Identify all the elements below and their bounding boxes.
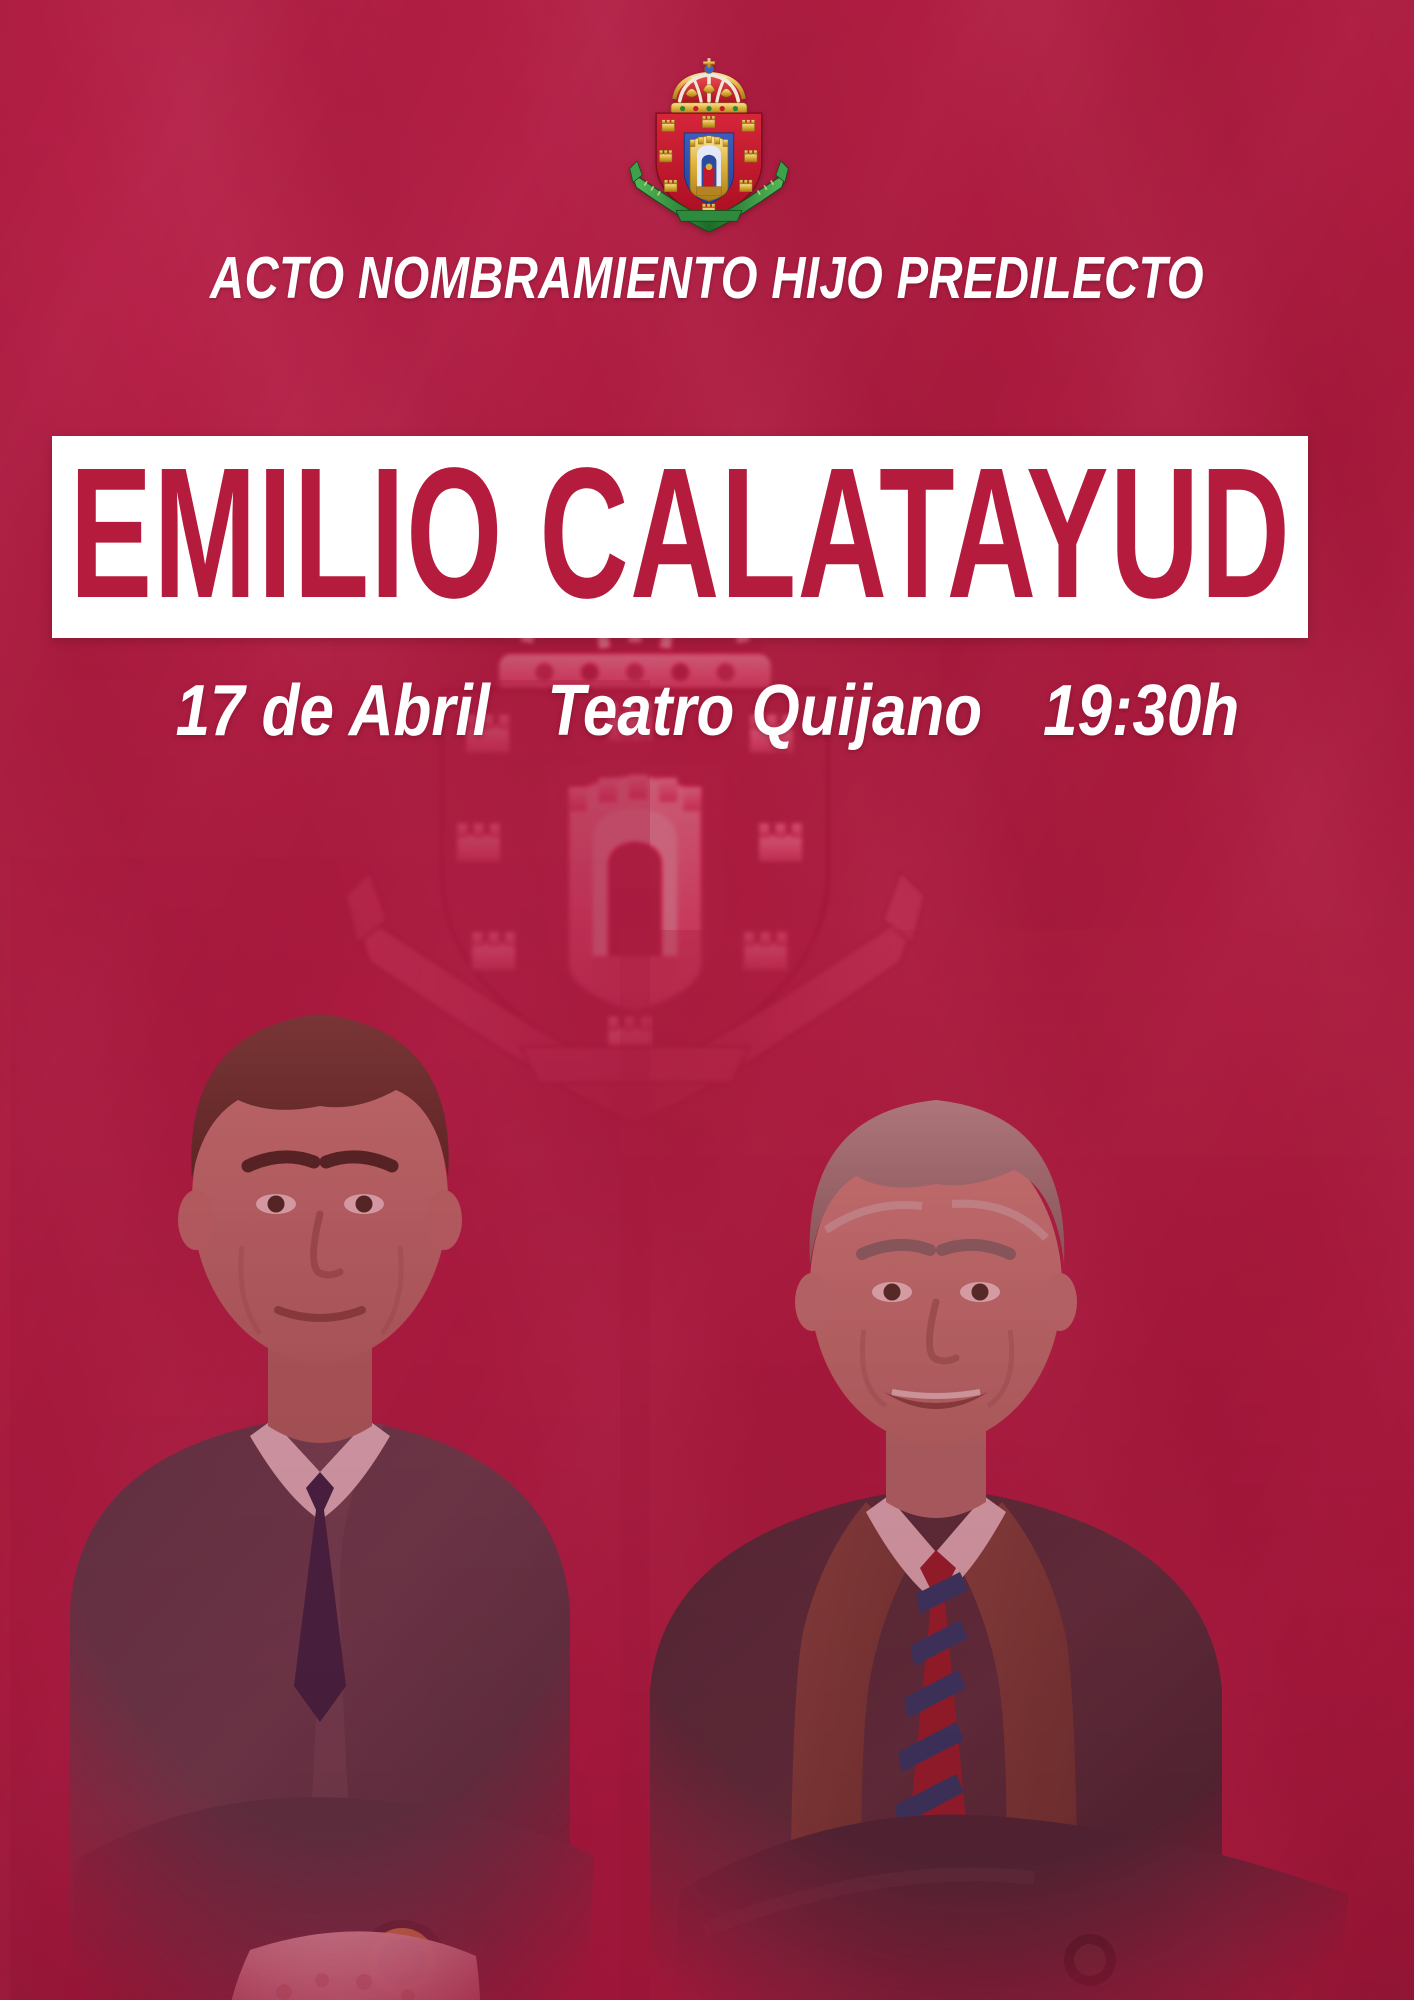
honoree-name: EMILIO CALATAYUD (69, 441, 1291, 633)
event-details-line: 17 de Abril Teatro Quijano 19:30h (0, 672, 1414, 751)
event-kicker: ACTO NOMBRAMIENTO HIJO PREDILECTO (141, 247, 1272, 310)
event-date: 17 de Abril (175, 671, 489, 751)
judge-in-robes-photo (10, 680, 650, 2000)
event-poster: ACTO NOMBRAMIENTO HIJO PREDILECTO EMILIO… (0, 0, 1414, 2000)
man-in-overcoat-photo (620, 930, 1414, 2000)
headline-block: ACTO NOMBRAMIENTO HIJO PREDILECTO (0, 247, 1414, 310)
event-time: 19:30h (1043, 671, 1239, 751)
honoree-name-band: EMILIO CALATAYUD (52, 436, 1308, 638)
escudo-ciudad-real-icon (624, 57, 794, 232)
event-venue: Teatro Quijano (547, 671, 982, 751)
